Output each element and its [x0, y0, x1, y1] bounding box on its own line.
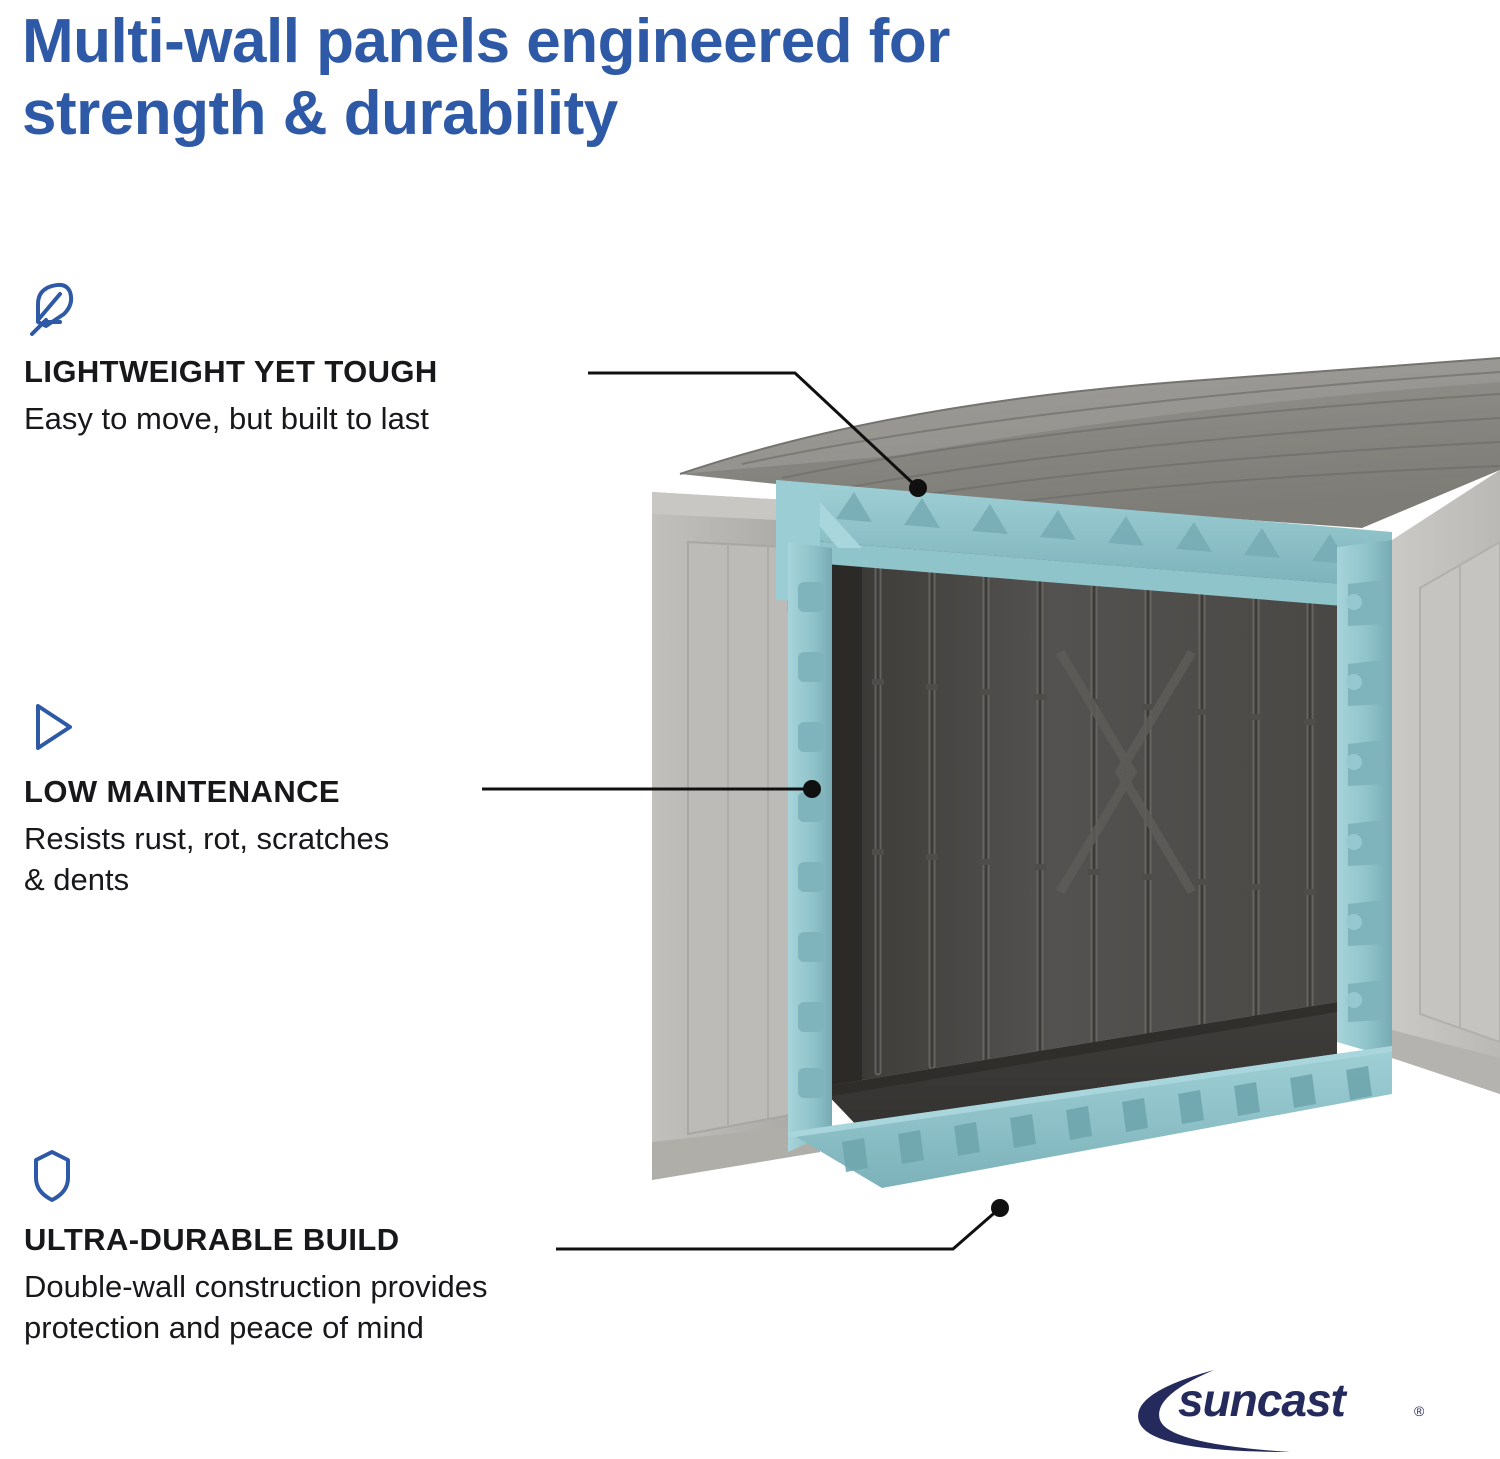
feature-low-maintenance: LOW MAINTENANCE Resists rust, rot, scrat… — [24, 698, 724, 900]
feature-ultra-durable-build: ULTRA-DURABLE BUILD Double-wall construc… — [24, 1146, 724, 1348]
feature-title: LIGHTWEIGHT YET TOUGH — [24, 354, 724, 390]
suncast-logo: suncast ® — [1118, 1368, 1478, 1454]
headline-line-2: strength & durability — [22, 78, 1202, 150]
feature-description: Double-wall construction provides protec… — [24, 1266, 704, 1348]
infographic-page: Multi-wall panels engineered for strengt… — [0, 0, 1500, 1459]
feature-lightweight-yet-tough: LIGHTWEIGHT YET TOUGH Easy to move, but … — [24, 278, 724, 439]
shield-icon — [24, 1146, 82, 1208]
page-title: Multi-wall panels engineered for strengt… — [22, 6, 1202, 150]
feature-title: ULTRA-DURABLE BUILD — [24, 1222, 724, 1258]
feature-description: Easy to move, but built to last — [24, 398, 704, 439]
cutaway-left-edge — [788, 542, 832, 1152]
product-image — [592, 352, 1500, 1252]
play-triangle-icon — [24, 698, 82, 760]
feather-icon — [24, 278, 82, 340]
headline-line-1: Multi-wall panels engineered for — [22, 6, 1202, 78]
logo-wordmark: suncast — [1178, 1374, 1348, 1426]
cutaway-right-edge — [1337, 540, 1392, 1058]
shed-right-panel — [1392, 470, 1500, 1094]
logo-trademark: ® — [1414, 1403, 1425, 1419]
feature-description: Resists rust, rot, scratches & dents — [24, 818, 704, 900]
feature-title: LOW MAINTENANCE — [24, 774, 724, 810]
